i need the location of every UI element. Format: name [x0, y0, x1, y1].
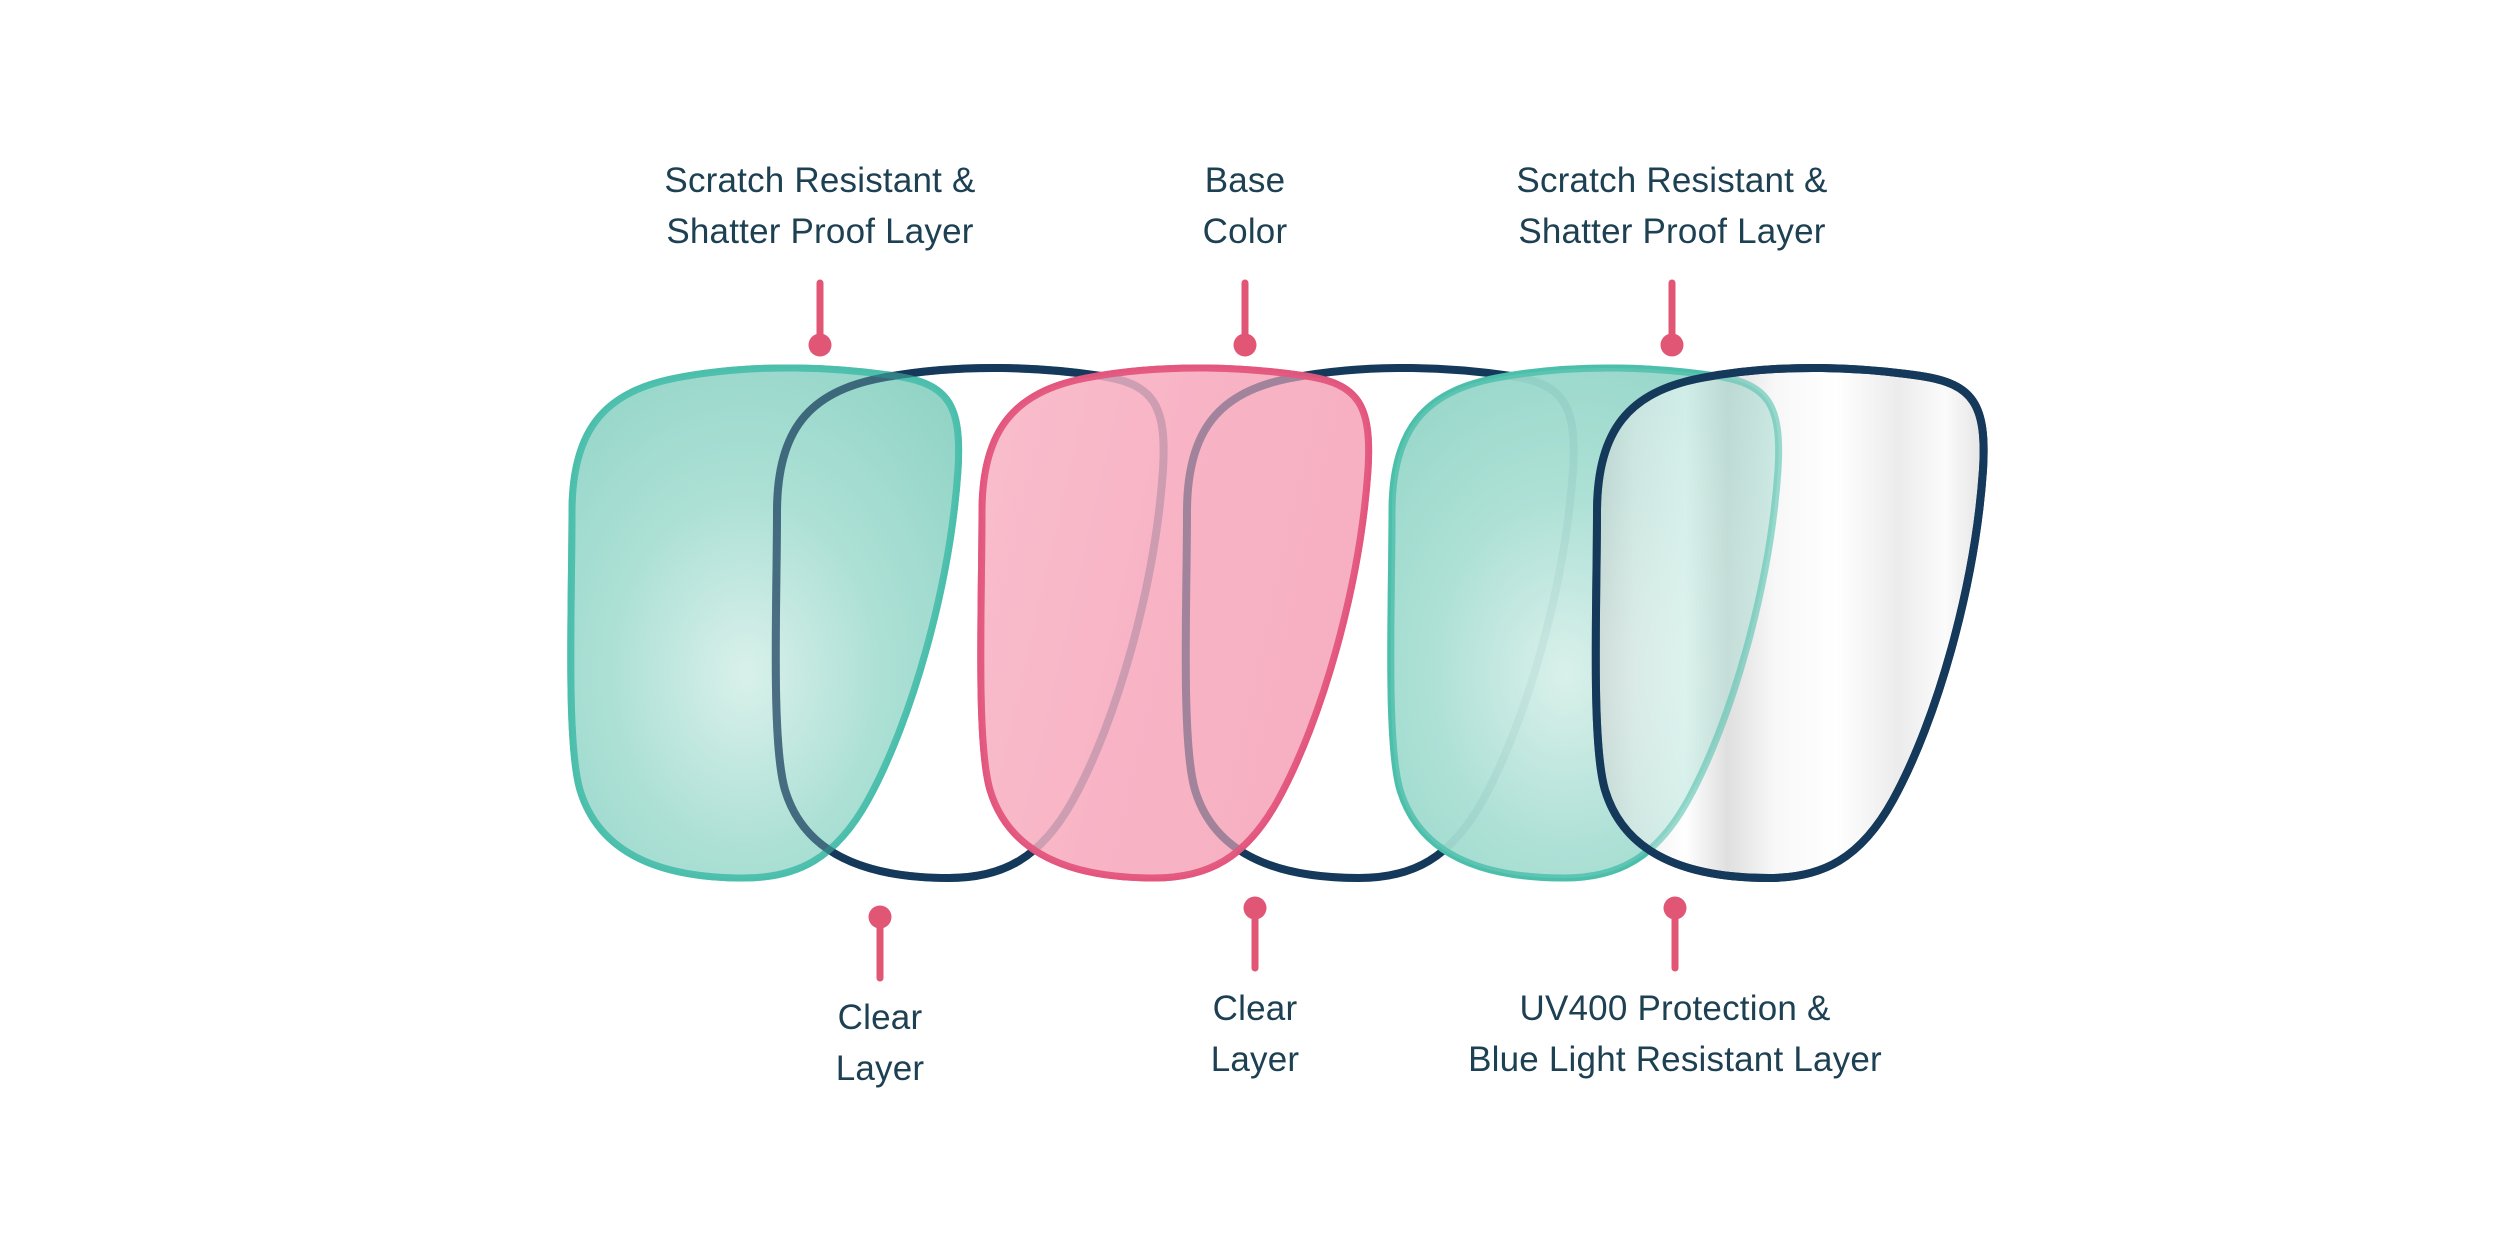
label-line: Clear [836, 992, 925, 1043]
label-clear-layer-one: Clear Layer [836, 992, 925, 1094]
label-line: Scratch Resistant & [1516, 155, 1827, 206]
label-line: Shatter Proof Layer [1516, 206, 1827, 257]
label-line: Shatter Proof Layer [664, 206, 975, 257]
pin-scratch-resistant-right [1661, 283, 1684, 357]
pin-scratch-resistant-left [809, 283, 832, 357]
label-line: Layer [836, 1043, 925, 1094]
label-line: Clear [1211, 983, 1300, 1034]
pin-uv400-protection [1664, 897, 1687, 969]
pin-clear-layer-two [1244, 897, 1267, 969]
label-line: Scratch Resistant & [664, 155, 975, 206]
label-line: Base [1203, 155, 1288, 206]
diagram-canvas: Scratch Resistant & Shatter Proof Layer … [0, 0, 2501, 1251]
label-base-color: Base Color [1203, 155, 1288, 257]
label-line: Layer [1211, 1034, 1300, 1085]
layer-scratch-resistant-shatter-proof-layer-1-overlay [571, 368, 959, 878]
label-scratch-resistant-right: Scratch Resistant & Shatter Proof Layer [1516, 155, 1827, 257]
label-line: Blue Light Resistant Layer [1468, 1034, 1882, 1085]
label-line: UV400 Protection & [1468, 983, 1882, 1034]
layer-base-color-overlay [981, 368, 1369, 878]
label-scratch-resistant-left: Scratch Resistant & Shatter Proof Layer [664, 155, 975, 257]
label-uv400-protection: UV400 Protection & Blue Light Resistant … [1468, 983, 1882, 1085]
label-clear-layer-two: Clear Layer [1211, 983, 1300, 1085]
pin-base-color [1234, 283, 1257, 357]
label-line: Color [1203, 206, 1288, 257]
pin-clear-layer-one [869, 906, 892, 979]
